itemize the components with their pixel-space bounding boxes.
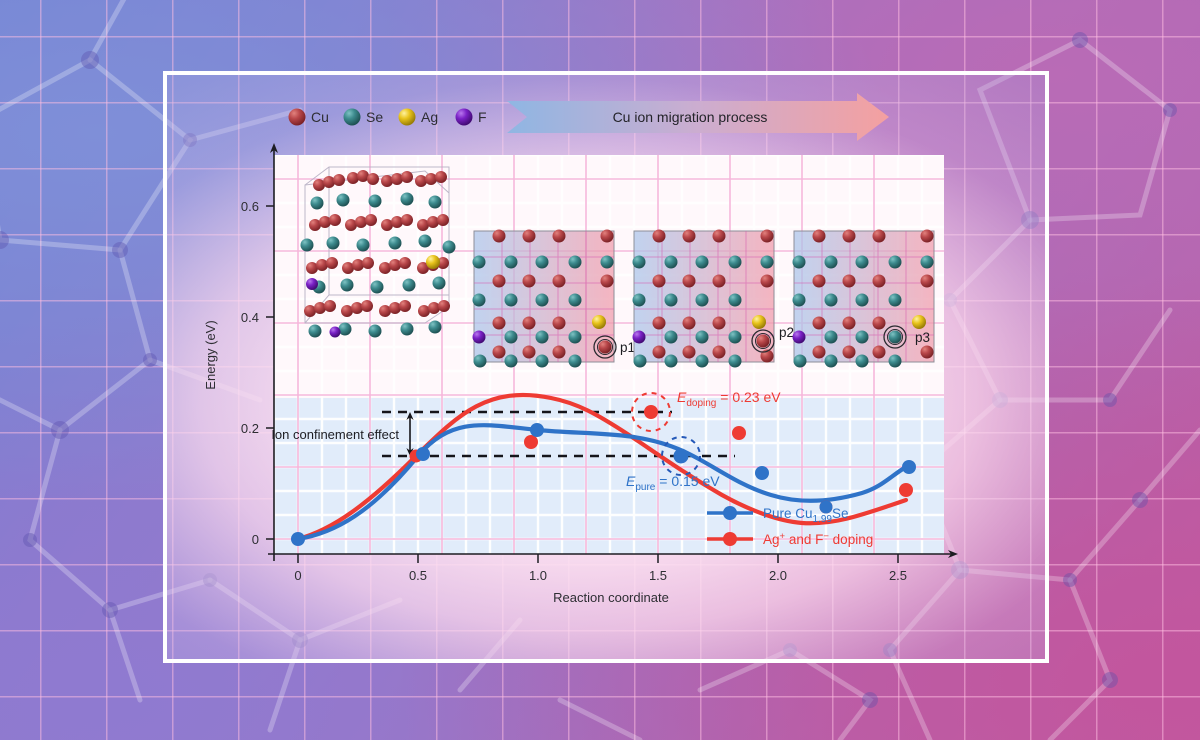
y-tick-label: 0 bbox=[252, 532, 259, 547]
data-point bbox=[732, 426, 746, 440]
species-label: Se bbox=[366, 109, 383, 125]
f-dopant-atom bbox=[306, 278, 318, 290]
data-point bbox=[524, 435, 538, 449]
y-axis-title: Energy (eV) bbox=[203, 320, 218, 389]
species-label: Ag bbox=[421, 109, 438, 125]
data-point bbox=[820, 501, 833, 514]
legend-marker-pure bbox=[723, 506, 737, 520]
species-label: F bbox=[478, 109, 487, 125]
ion-confinement-label: Ion confinement effect bbox=[271, 427, 399, 442]
ag-atom-p3 bbox=[912, 315, 926, 329]
legend-marker-doping bbox=[723, 532, 737, 546]
f-atom-icon bbox=[456, 109, 473, 126]
x-tick-label: 0 bbox=[294, 568, 301, 583]
data-point-peak-pure bbox=[674, 449, 689, 464]
migration-banner: Cu ion migration process bbox=[507, 93, 889, 141]
y-tick-label: 0.6 bbox=[241, 199, 259, 214]
x-tick-label: 1.5 bbox=[649, 568, 667, 583]
banner-label: Cu ion migration process bbox=[613, 109, 768, 125]
y-axis-ticks: 0 0.2 0.4 0.6 bbox=[241, 199, 274, 547]
x-tick-label: 2.0 bbox=[769, 568, 787, 583]
panel-label-p2: p2 bbox=[779, 325, 794, 340]
figure-content: 0 0.2 0.4 0.6 Energy (eV) 0 bbox=[167, 75, 1053, 667]
data-point bbox=[530, 423, 544, 437]
panel-label-p1: p1 bbox=[620, 340, 635, 355]
f-atom-p2 bbox=[633, 331, 646, 344]
se-atom-icon bbox=[344, 109, 361, 126]
slab-panel-p2: p2 bbox=[633, 230, 795, 368]
slab-panel-p3: p3 bbox=[793, 230, 935, 368]
ag-atom-p1 bbox=[592, 315, 606, 329]
figure-root: 0 0.2 0.4 0.6 Energy (eV) 0 bbox=[0, 0, 1200, 740]
slab-panel-p1: p1 bbox=[473, 230, 636, 368]
f-atom-p1 bbox=[473, 331, 486, 344]
ag-dopant-atom bbox=[426, 255, 440, 269]
figure-card: 0 0.2 0.4 0.6 Energy (eV) 0 bbox=[167, 75, 1045, 659]
migrating-cu-p2 bbox=[757, 335, 770, 348]
data-point-peak-doping bbox=[644, 405, 658, 419]
data-point bbox=[416, 447, 430, 461]
figure-frame: 0 0.2 0.4 0.6 Energy (eV) 0 bbox=[163, 71, 1049, 663]
data-point bbox=[291, 532, 305, 546]
data-point bbox=[899, 483, 913, 497]
energy-barrier-chart: 0 0.2 0.4 0.6 Energy (eV) 0 bbox=[167, 75, 1053, 667]
f-atom-p3 bbox=[793, 331, 806, 344]
y-tick-label: 0.4 bbox=[241, 310, 259, 325]
y-tick-label: 0.2 bbox=[241, 421, 259, 436]
x-tick-label: 2.5 bbox=[889, 568, 907, 583]
species-legend: Cu Se Ag F bbox=[289, 109, 487, 126]
species-label: Cu bbox=[311, 109, 329, 125]
ag-atom-p2 bbox=[752, 315, 766, 329]
x-axis-title: Reaction coordinate bbox=[553, 590, 669, 605]
migrating-cu-p1 bbox=[599, 341, 612, 354]
migrating-site-p3 bbox=[889, 331, 902, 344]
cu-atom-icon bbox=[289, 109, 306, 126]
x-tick-label: 0.5 bbox=[409, 568, 427, 583]
data-point bbox=[902, 460, 916, 474]
x-axis-ticks: 0 0.5 1.0 1.5 2.0 2.5 bbox=[294, 554, 907, 583]
ag-atom-icon bbox=[399, 109, 416, 126]
panel-label-p3: p3 bbox=[915, 330, 930, 345]
data-point bbox=[755, 466, 769, 480]
x-tick-label: 1.0 bbox=[529, 568, 547, 583]
